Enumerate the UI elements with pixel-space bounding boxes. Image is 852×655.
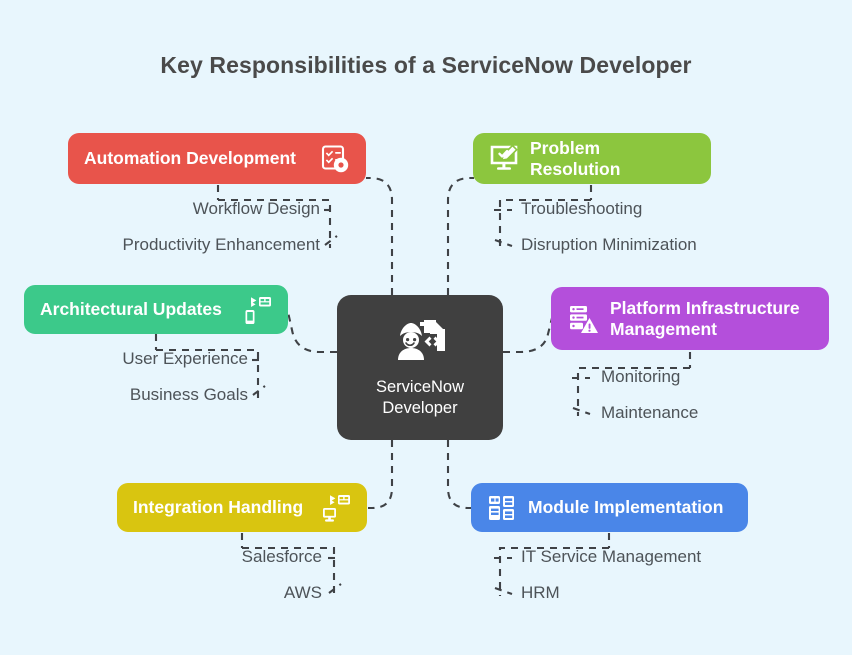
page-title: Key Responsibilities of a ServiceNow Dev…	[0, 52, 852, 79]
leaf-label: Workflow Design	[193, 199, 320, 218]
leaf-label: User Experience	[122, 349, 248, 368]
leaf-label: IT Service Management	[521, 547, 701, 566]
branch-node-module-implementation[interactable]: Module Implementation	[471, 483, 748, 532]
leaf-it-service-management: IT Service Management	[521, 547, 701, 567]
leaf-label: AWS	[284, 583, 322, 602]
branch-label-problem-resolution: Problem Resolution	[530, 138, 695, 179]
leaf-label: Disruption Minimization	[521, 235, 697, 254]
branch-node-architectural-updates[interactable]: Architectural Updates	[24, 285, 288, 334]
leaf-business-goals: Business Goals	[20, 385, 248, 405]
center-node[interactable]: ServiceNow Developer	[337, 295, 503, 440]
branch-label-automation-development: Automation Development	[84, 148, 296, 169]
center-node-label: ServiceNow Developer	[337, 377, 503, 419]
branch-node-automation-development[interactable]: Automation Development	[68, 133, 366, 184]
branch-label-platform-infrastructure-management: Platform Infrastructure Management	[610, 298, 800, 339]
developer-code-icon	[394, 316, 446, 368]
leaf-aws: AWS	[100, 583, 322, 603]
branch-node-integration-handling[interactable]: Integration Handling	[117, 483, 367, 532]
mindmap-canvas: Key Responsibilities of a ServiceNow Dev…	[0, 0, 852, 655]
leaf-user-experience: User Experience	[20, 349, 248, 369]
leaf-salesforce: Salesforce	[100, 547, 322, 567]
device-sync-icon	[242, 295, 272, 325]
leaf-maintenance: Maintenance	[601, 403, 698, 423]
leaf-label: Productivity Enhancement	[123, 235, 321, 254]
branch-label-module-implementation: Module Implementation	[528, 497, 723, 518]
server-alert-icon	[567, 303, 599, 335]
checklist-gear-icon	[320, 144, 350, 174]
branch-node-platform-infrastructure-management[interactable]: Platform Infrastructure Management	[551, 287, 829, 350]
leaf-workflow-design: Workflow Design	[60, 199, 320, 219]
branch-node-problem-resolution[interactable]: Problem Resolution	[473, 133, 711, 184]
leaf-label: HRM	[521, 583, 560, 602]
leaf-label: Troubleshooting	[521, 199, 642, 218]
leaf-label: Monitoring	[601, 367, 680, 386]
leaf-troubleshooting: Troubleshooting	[521, 199, 642, 219]
branch-label-architectural-updates: Architectural Updates	[40, 299, 222, 320]
device-sync-monitor-icon	[321, 493, 351, 523]
leaf-label: Business Goals	[130, 385, 248, 404]
leaf-disruption-minimization: Disruption Minimization	[521, 235, 697, 255]
branch-label-integration-handling: Integration Handling	[133, 497, 303, 518]
monitor-edit-icon	[489, 144, 519, 173]
leaf-hrm: HRM	[521, 583, 560, 603]
leaf-label: Maintenance	[601, 403, 698, 422]
leaf-productivity-enhancement: Productivity Enhancement	[40, 235, 320, 255]
leaf-label: Salesforce	[242, 547, 322, 566]
leaf-monitoring: Monitoring	[601, 367, 680, 387]
server-modules-icon	[487, 493, 517, 523]
